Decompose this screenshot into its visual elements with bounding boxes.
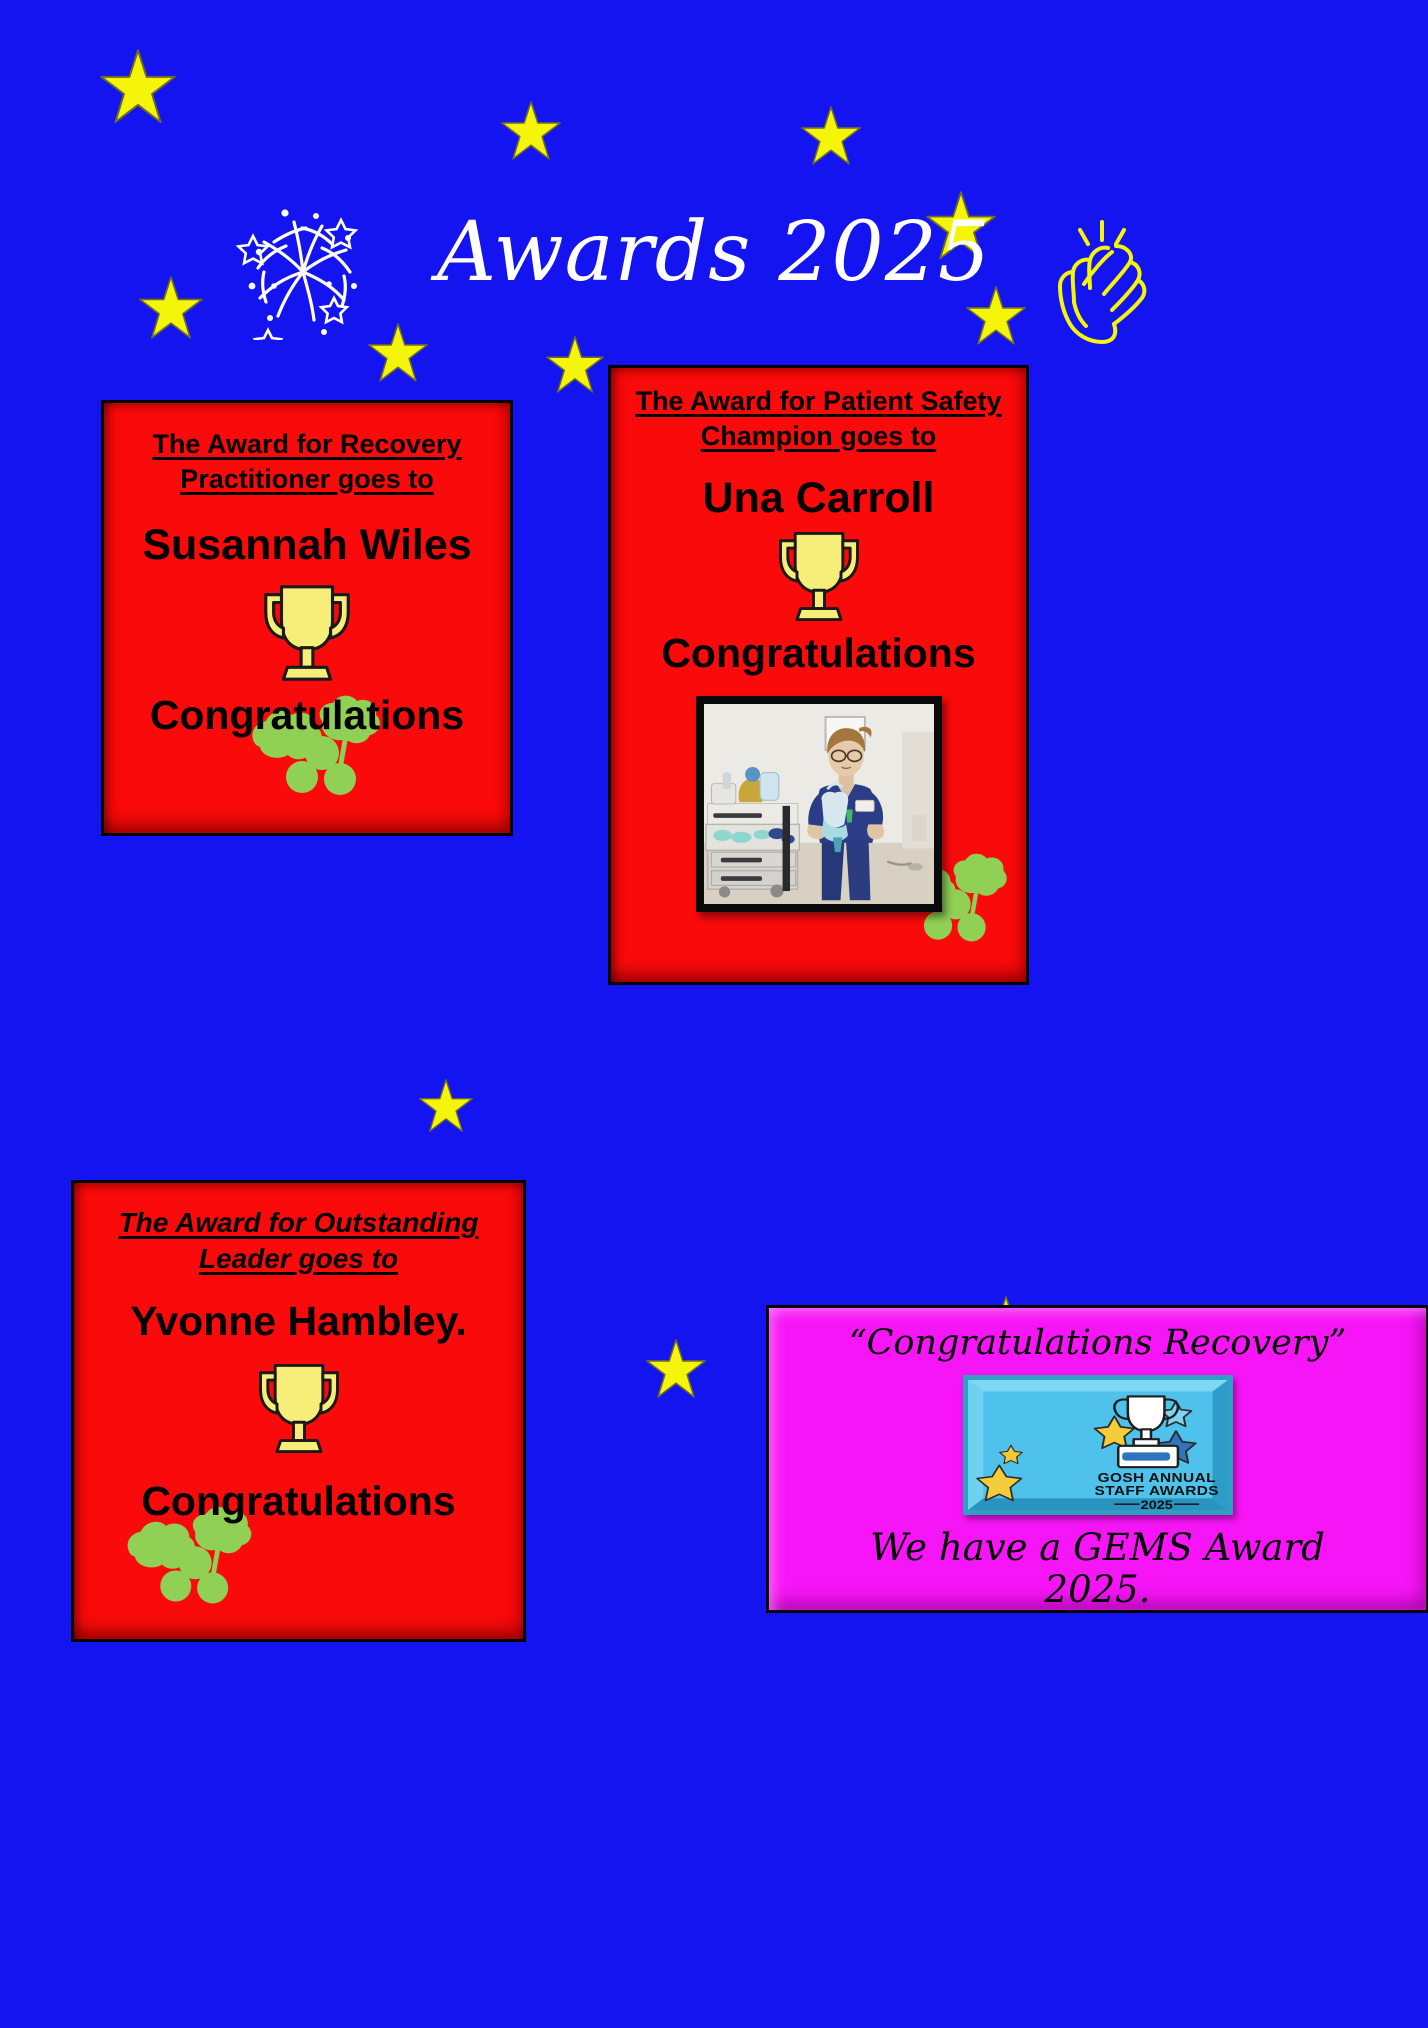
award-card-patient-safety-champion: The Award for Patient Safety Champion go… [608,365,1029,985]
gosh-staff-awards-badge: GOSH ANNUAL STAFF AWARDS 2025 [963,1375,1233,1515]
poster-header: Awards 2025 [0,180,1428,360]
award-congrats-text: Congratulations [150,693,464,738]
award-heading: The Award for Patient Safety Champion go… [628,384,1010,453]
award-heading-line2: Leader goes to [199,1243,398,1274]
star-icon [965,285,1027,347]
award-heading: The Award for Outstanding Leader goes to [99,1205,499,1277]
star-icon [418,1078,474,1134]
trophy-icon [248,579,366,687]
recipient-photo [696,696,942,912]
awards-poster: Awards 2025 [0,0,1428,2028]
gems-caption-line2: 2025. [1045,1568,1151,1611]
star-icon [138,275,204,341]
award-recipient-name: Susannah Wiles [142,522,471,569]
gems-caption: We have a GEMS Award 2025. [798,1527,1398,1610]
award-heading-line1: The Award for Outstanding [119,1207,479,1238]
trophy-icon [764,526,874,627]
award-heading-line2: Champion goes to [701,421,937,451]
award-congrats-text: Congratulations [141,1479,455,1524]
trophy-icon [244,1358,354,1459]
gems-award-card: “Congratulations Recovery” [766,1305,1428,1613]
star-icon [925,190,997,262]
award-heading-line2: Practitioner goes to [180,464,434,494]
badge-year: 2025 [1140,1498,1173,1510]
award-heading-line1: The Award for Patient Safety [635,386,1001,416]
badge-line2: STAFF AWARDS [1094,1484,1218,1499]
star-icon [800,105,862,167]
star-icon [545,335,605,395]
award-recipient-name: Una Carroll [703,475,935,522]
star-icon [645,1338,707,1400]
award-recipient-name: Yvonne Hambley. [130,1299,466,1344]
award-card-outstanding-leader: The Award for Outstanding Leader goes to… [71,1180,526,1642]
award-card-recovery-practitioner: The Award for Recovery Practitioner goes… [101,400,513,836]
award-heading: The Award for Recovery Practitioner goes… [142,427,472,496]
firework-icon [228,190,378,340]
clapping-hands-icon [1046,218,1156,348]
star-icon [500,100,562,162]
gems-quote: “Congratulations Recovery” [849,1324,1347,1363]
gems-caption-line1: We have a GEMS Award [870,1526,1325,1569]
award-heading-line1: The Award for Recovery [152,429,461,459]
star-icon [99,48,177,126]
star-icon [367,322,429,384]
award-congrats-text: Congratulations [661,631,975,676]
